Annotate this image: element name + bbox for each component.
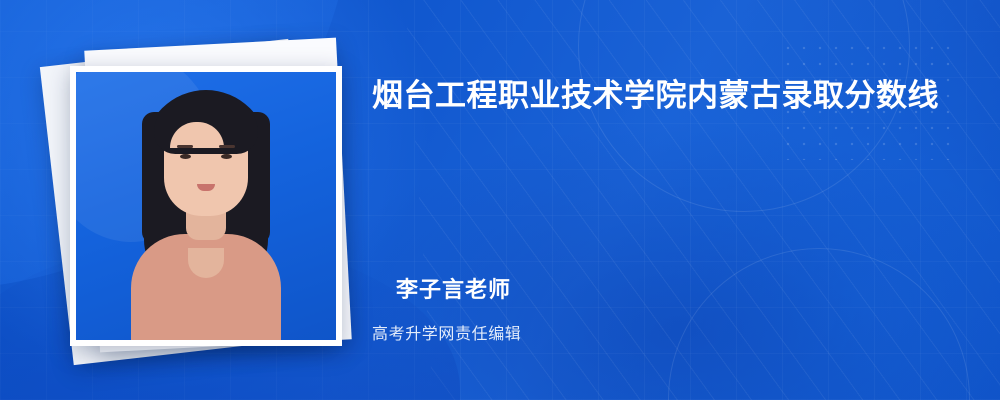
portrait-eye-right	[221, 154, 232, 159]
photo-stack	[48, 30, 348, 370]
portrait-photo	[76, 72, 336, 340]
portrait-body	[131, 234, 281, 340]
headline-title: 烟台工程职业技术学院内蒙古录取分数线	[372, 72, 972, 120]
portrait-eyebrow-left	[177, 145, 193, 148]
portrait-eyebrow-right	[219, 145, 235, 148]
portrait-fringe	[154, 96, 258, 154]
photo-frame-front	[70, 66, 342, 346]
text-content: 烟台工程职业技术学院内蒙古录取分数线 李子言老师 高考升学网责任编辑	[372, 0, 1000, 400]
promo-card: 烟台工程职业技术学院内蒙古录取分数线 李子言老师 高考升学网责任编辑	[0, 0, 1000, 400]
author-role: 高考升学网责任编辑	[372, 320, 521, 344]
author-name: 李子言老师	[396, 272, 511, 304]
portrait-eye-left	[180, 154, 191, 159]
